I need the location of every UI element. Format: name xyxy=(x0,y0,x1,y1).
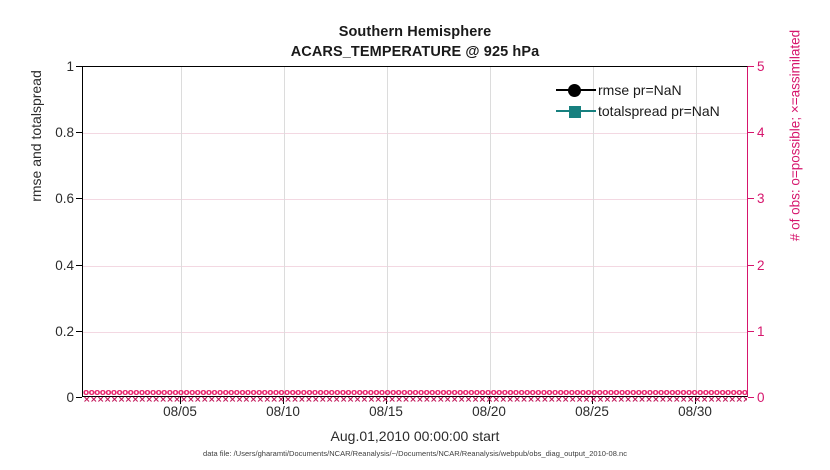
x-axis-title: Aug.01,2010 00:00:00 start xyxy=(0,428,830,444)
y2-axis-title: # of obs: o=possible; ×=assimilated xyxy=(788,0,803,276)
y-axis-tick-label: 0 xyxy=(66,390,74,405)
gridline-horizontal xyxy=(83,332,747,333)
y-axis-tick-label: 0.8 xyxy=(55,125,74,140)
gridline-vertical xyxy=(181,67,182,396)
x-axis-tick xyxy=(180,397,181,404)
gridline-vertical xyxy=(490,67,491,396)
y-axis-tick xyxy=(76,132,82,133)
chart-title-region: Southern Hemisphere xyxy=(0,22,830,42)
filled-square-marker-icon xyxy=(569,106,581,118)
y-axis-tick-label: 0.6 xyxy=(55,191,74,206)
y2-axis-tick xyxy=(748,331,754,332)
gridline-horizontal xyxy=(83,133,747,134)
x-axis-tick-label: 08/10 xyxy=(266,404,300,419)
x-axis-tick-label: 08/30 xyxy=(678,404,712,419)
y-axis-tick xyxy=(76,331,82,332)
gridline-vertical xyxy=(387,67,388,396)
gridline-horizontal xyxy=(83,199,747,200)
x-axis-tick xyxy=(695,397,696,404)
x-axis-tick-label: 08/05 xyxy=(163,404,197,419)
gridline-horizontal xyxy=(83,266,747,267)
y2-axis-tick-label: 0 xyxy=(757,390,765,405)
x-axis-tick xyxy=(592,397,593,404)
y-axis-tick xyxy=(76,397,82,398)
x-axis-tick-label: 08/20 xyxy=(472,404,506,419)
chart-title-variable: ACARS_TEMPERATURE @ 925 hPa xyxy=(0,42,830,62)
y2-axis-tick xyxy=(748,198,754,199)
y2-axis-tick xyxy=(748,397,754,398)
legend-swatch-totalspread xyxy=(556,103,596,119)
filled-circle-marker-icon xyxy=(568,84,581,97)
gridline-vertical xyxy=(284,67,285,396)
x-axis-tick-label: 08/25 xyxy=(575,404,609,419)
y2-axis-tick-label: 2 xyxy=(757,258,765,273)
y-axis-tick-label: 0.4 xyxy=(55,258,74,273)
y2-axis-tick xyxy=(748,132,754,133)
y-axis-title: rmse and totalspread xyxy=(28,0,44,276)
x-axis-tick xyxy=(283,397,284,404)
x-axis-tick-label: 08/15 xyxy=(369,404,403,419)
obs-assimilated-markers: ××××××××××××××××××××××××××××××××××××××××… xyxy=(83,396,747,404)
y-axis-tick-label: 0.2 xyxy=(55,324,74,339)
y2-axis-tick-label: 4 xyxy=(757,125,765,140)
legend-swatch-rmse xyxy=(556,82,596,98)
y2-axis-tick xyxy=(748,66,754,67)
y-axis-tick xyxy=(76,265,82,266)
legend-label-totalspread: totalspread pr=NaN xyxy=(596,103,720,119)
y-axis-tick xyxy=(76,198,82,199)
x-axis-tick xyxy=(489,397,490,404)
y2-axis-tick xyxy=(748,265,754,266)
chart-legend: rmse pr=NaN totalspread pr=NaN xyxy=(556,79,746,121)
legend-item-totalspread[interactable]: totalspread pr=NaN xyxy=(556,100,746,121)
y2-axis-tick-label: 1 xyxy=(757,324,765,339)
chart-title-block: Southern Hemisphere ACARS_TEMPERATURE @ … xyxy=(0,22,830,62)
x-axis-tick xyxy=(386,397,387,404)
y-axis-tick-label: 1 xyxy=(66,59,74,74)
y-axis-tick xyxy=(76,66,82,67)
legend-item-rmse[interactable]: rmse pr=NaN xyxy=(556,79,746,100)
y2-axis-tick-label: 5 xyxy=(757,59,765,74)
y2-axis-tick-label: 3 xyxy=(757,191,765,206)
data-file-caption: data file: /Users/gharamti/Documents/NCA… xyxy=(0,449,830,458)
legend-label-rmse: rmse pr=NaN xyxy=(596,82,682,98)
